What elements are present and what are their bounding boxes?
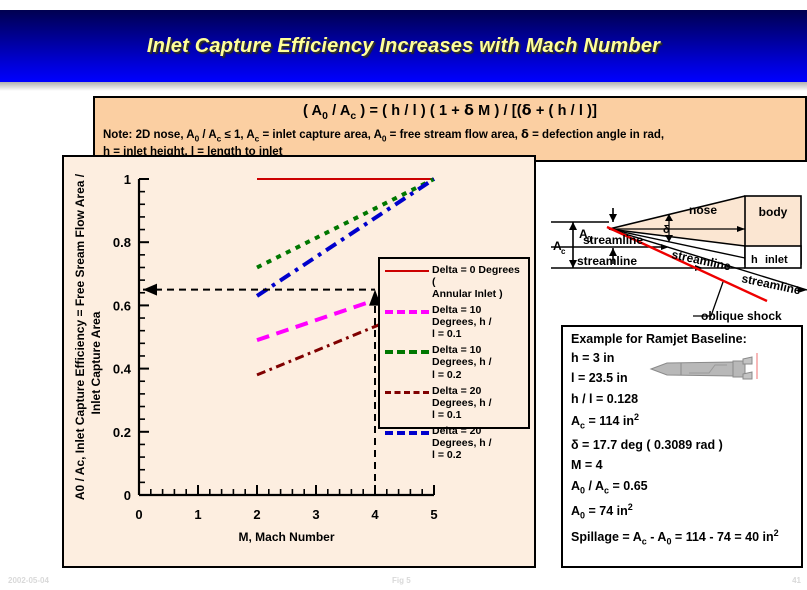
ex-a: h / l = 0.128 [571, 392, 638, 406]
example-ramjet-box: Example for Ramjet Baseline: h = 3 inl =… [561, 325, 803, 568]
ac-arrow-top [569, 222, 577, 230]
legend-label-line2: l = 0.2 [432, 369, 525, 381]
eq-after-delta: M ) / [( [474, 103, 522, 119]
legend-item-2[interactable]: Delta = 10 Degrees, h /l = 0.2 [385, 344, 525, 380]
chart-series-line-2 [257, 179, 434, 267]
ex-c: = 0.65 [609, 479, 648, 493]
legend-label-3: Delta = 20 Degrees, h /l = 0.1 [432, 385, 525, 421]
x-axis-title: M, Mach Number [238, 530, 334, 544]
footer-center: Fig 5 [392, 576, 411, 585]
x-tick-label: 4 [371, 507, 379, 522]
eq-lhs-close: ) = ( h / l ) ( 1 + [356, 103, 464, 119]
legend-swatch-4 [385, 425, 429, 439]
slide-footer: 2002-05-04 Fig 5 41 [0, 576, 807, 590]
y-tick-label: 1 [124, 172, 131, 187]
footer-date: 2002-05-04 [8, 576, 49, 585]
ex-c: = 114 - 74 = 40 in [671, 530, 773, 544]
legend-line-sample [385, 310, 429, 314]
legend-item-0[interactable]: Delta = 0 Degrees (Annular Inlet ) [385, 264, 525, 300]
ex-a: l = 23.5 in [571, 371, 628, 385]
missile-icon [649, 355, 753, 381]
note-part-k: = defection angle in rad, [529, 129, 664, 141]
ex-b: / A [585, 479, 604, 493]
y-axis-title-line1: A0 / Ac, Inlet Capture Efficiency = Free… [73, 173, 87, 500]
legend-line-sample [385, 350, 429, 354]
note-delta-symbol: δ [521, 127, 529, 141]
label-delta: δ [663, 224, 670, 236]
x-tick-label: 1 [194, 507, 201, 522]
legend-line-sample [385, 431, 429, 435]
example-line-h_over_l: h / l = 0.128 [571, 393, 793, 406]
legend-item-4[interactable]: Delta = 20 Degrees, h /l = 0.2 [385, 425, 525, 461]
legend-label-line2: Annular Inlet ) [432, 288, 525, 300]
x-tick-label: 2 [253, 507, 260, 522]
legend-label-4: Delta = 20 Degrees, h /l = 0.2 [432, 425, 525, 461]
legend-swatch-0 [385, 264, 429, 278]
example-line-A0: A0 = 74 in2 [571, 503, 793, 521]
example-line-spill: Spillage = Ac - A0 = 114 - 74 = 40 in2 [571, 529, 793, 547]
legend-label-line1: Delta = 20 Degrees, h / [432, 425, 525, 449]
legend-label-line2: l = 0.1 [432, 328, 525, 340]
footer-page-number: 41 [792, 576, 801, 585]
eq-delta-symbol-2: δ [522, 103, 532, 119]
note-part-c: / A [199, 129, 216, 141]
y-tick-label: 0 [124, 488, 131, 503]
note-part-a: Note: 2D nose, A [103, 129, 195, 141]
a0-arrow [609, 214, 617, 222]
ex-sup: 2 [774, 528, 779, 538]
y-tick-label: 0.6 [113, 298, 131, 313]
formula-box: ( A0 / Ac ) = ( h / l ) ( 1 + δ M ) / [(… [93, 96, 807, 162]
y-axis-title-line2: Inlet Capture Area [89, 311, 103, 414]
label-nose: nose [689, 203, 717, 217]
example-line-Ac: Ac = 114 in2 [571, 413, 793, 431]
legend-label-2: Delta = 10 Degrees, h /l = 0.2 [432, 344, 525, 380]
legend-label-line1: Delta = 10 Degrees, h / [432, 344, 525, 368]
legend-label-line2: l = 0.2 [432, 449, 525, 461]
legend-label-line1: Delta = 0 Degrees ( [432, 264, 525, 288]
legend-item-1[interactable]: Delta = 10 Degrees, h /l = 0.1 [385, 304, 525, 340]
chart-legend: Delta = 0 Degrees (Annular Inlet )Delta … [378, 257, 530, 429]
ac-arrow-bottom [569, 260, 577, 268]
legend-label-1: Delta = 10 Degrees, h /l = 0.1 [432, 304, 525, 340]
legend-label-line1: Delta = 20 Degrees, h / [432, 385, 525, 409]
inlet-shock-diagram: A 0 A c nose body h inlet δ streamline s… [551, 186, 807, 323]
example-line-M: M = 4 [571, 459, 793, 472]
slide-title-banner: Inlet Capture Efficiency Increases with … [0, 10, 807, 82]
note-part-e: ≤ 1, A [221, 129, 254, 141]
ex-a: M = 4 [571, 458, 603, 472]
ex-a: Spillage = A [571, 530, 642, 544]
legend-item-3[interactable]: Delta = 20 Degrees, h /l = 0.1 [385, 385, 525, 421]
ex-sup: 2 [634, 412, 639, 422]
x-tick-label: 0 [135, 507, 142, 522]
ex-a: δ = 17.7 deg ( 0.3089 rad ) [571, 438, 723, 452]
legend-label-line2: l = 0.1 [432, 409, 525, 421]
legend-label-0: Delta = 0 Degrees (Annular Inlet ) [432, 264, 525, 300]
example-line-delta: δ = 17.7 deg ( 0.3089 rad ) [571, 439, 793, 452]
legend-swatch-3 [385, 385, 429, 399]
capture-ratio-equation: ( A0 / Ac ) = ( h / l ) ( 1 + δ M ) / [(… [103, 103, 797, 122]
legend-swatch-2 [385, 344, 429, 358]
annotation-left-arrowhead [143, 284, 157, 296]
x-tick-label: 5 [430, 507, 437, 522]
label-h: h [751, 254, 758, 266]
ex-a: A [571, 479, 580, 493]
legend-line-sample [385, 391, 429, 394]
example-line-ratio: A0 / Ac = 0.65 [571, 480, 793, 496]
label-oblique-shock: oblique shock [701, 309, 782, 323]
ex-a: A [571, 504, 580, 518]
legend-label-line1: Delta = 10 Degrees, h / [432, 304, 525, 328]
title-shadow-divider [0, 82, 807, 91]
ex-a: A [571, 414, 580, 428]
ex-a: h = 3 in [571, 351, 614, 365]
x-tick-label: 3 [312, 507, 319, 522]
eq-tail: + ( h / l )] [532, 103, 597, 119]
label-body: body [759, 205, 788, 219]
note-part-i: = free stream flow area, [386, 129, 521, 141]
ex-b: = 74 in [585, 504, 628, 518]
inlet-diagram-svg: A 0 A c nose body h inlet δ streamline s… [551, 186, 807, 323]
label-inlet: inlet [765, 254, 788, 266]
pink-accent-tick [756, 353, 758, 379]
eq-lhs-mid: / A [328, 103, 350, 119]
y-tick-label: 0.4 [113, 362, 132, 377]
y-tick-label: 0.2 [113, 425, 131, 440]
legend-swatch-1 [385, 304, 429, 318]
label-streamline-1: streamline [583, 233, 643, 247]
eq-lhs-open: ( A [303, 103, 322, 119]
page-title: Inlet Capture Efficiency Increases with … [147, 35, 660, 58]
legend-line-sample [385, 270, 429, 272]
label-streamline-2: streamline [577, 254, 637, 268]
example-heading: Example for Ramjet Baseline: [571, 333, 793, 346]
ex-sup: 2 [628, 502, 633, 512]
ex-b: - A [647, 530, 667, 544]
eq-delta-symbol: δ [464, 103, 474, 119]
y-tick-label: 0.8 [113, 235, 131, 250]
note-part-g: = inlet capture area, A [259, 129, 382, 141]
label-ac-sub: c [561, 247, 566, 256]
chart-annotation [143, 284, 381, 493]
ex-b: = 114 in [585, 414, 634, 428]
